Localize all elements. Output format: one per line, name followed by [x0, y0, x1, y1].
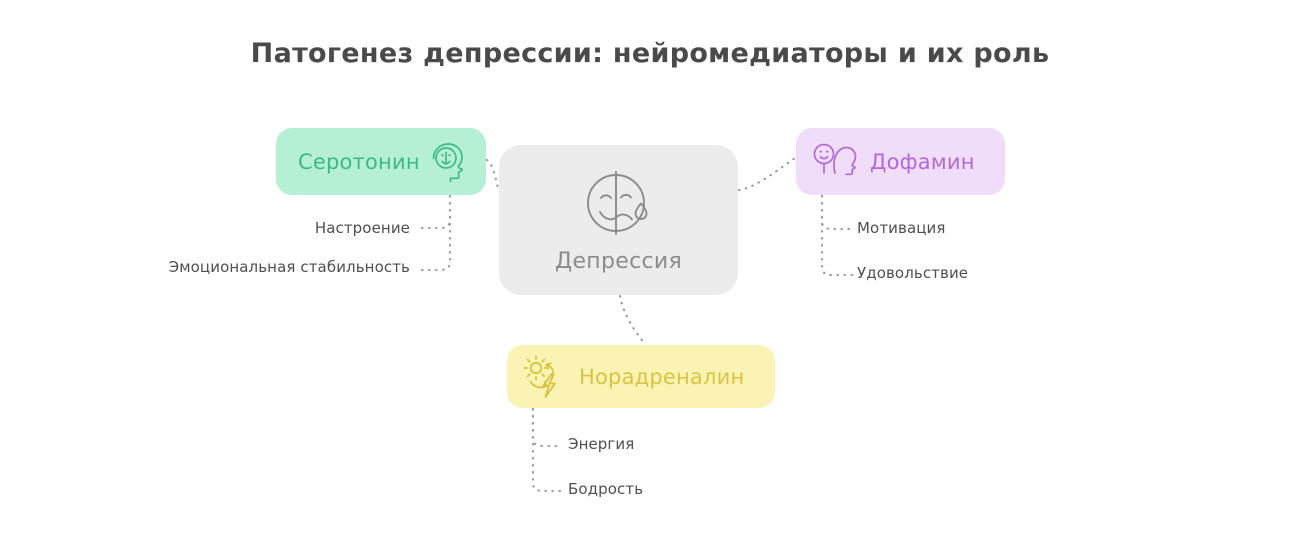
sublabel-energy: Энергия — [568, 435, 788, 453]
connector-center-to-dopamine — [739, 158, 795, 190]
smiley-head-profile-icon — [810, 141, 858, 183]
connector-dopamine-to-motivation — [822, 196, 852, 229]
sun-lightning-energy-icon — [521, 354, 569, 400]
connector-noradrenaline-to-vigor — [533, 409, 562, 491]
node-dopamine-label: Дофамин — [870, 150, 975, 174]
sublabel-motivation: Мотивация — [857, 219, 1097, 237]
node-serotonin[interactable]: Серотонин — [276, 128, 486, 195]
node-dopamine[interactable]: Дофамин — [796, 128, 1005, 195]
connector-serotonin-to-mood — [420, 196, 450, 228]
sublabel-emotional-stability: Эмоциональная стабильность — [105, 258, 410, 276]
sublabel-mood: Настроение — [145, 219, 410, 237]
node-central-depression[interactable]: Депрессия — [499, 145, 738, 295]
head-with-face-icon — [426, 141, 470, 183]
node-central-label: Депрессия — [555, 249, 682, 274]
sublabel-pleasure: Удовольствие — [857, 264, 1117, 282]
node-noradrenaline-label: Норадреналин — [579, 365, 744, 389]
connector-noradrenaline-to-energy — [533, 409, 562, 446]
split-face-happy-sad-icon — [580, 167, 658, 239]
connector-serotonin-to-stability — [420, 196, 450, 270]
node-serotonin-label: Серотонин — [298, 150, 420, 174]
connector-serotonin-to-center — [487, 160, 498, 188]
diagram-canvas: Патогенез депрессии: нейромедиаторы и их… — [0, 0, 1300, 546]
connector-dopamine-to-pleasure — [822, 196, 852, 275]
sublabel-vigor: Бодрость — [568, 480, 788, 498]
connector-center-to-noradrenaline — [620, 296, 645, 344]
page-title: Патогенез депрессии: нейромедиаторы и их… — [0, 38, 1300, 69]
node-noradrenaline[interactable]: Норадреналин — [507, 345, 775, 408]
